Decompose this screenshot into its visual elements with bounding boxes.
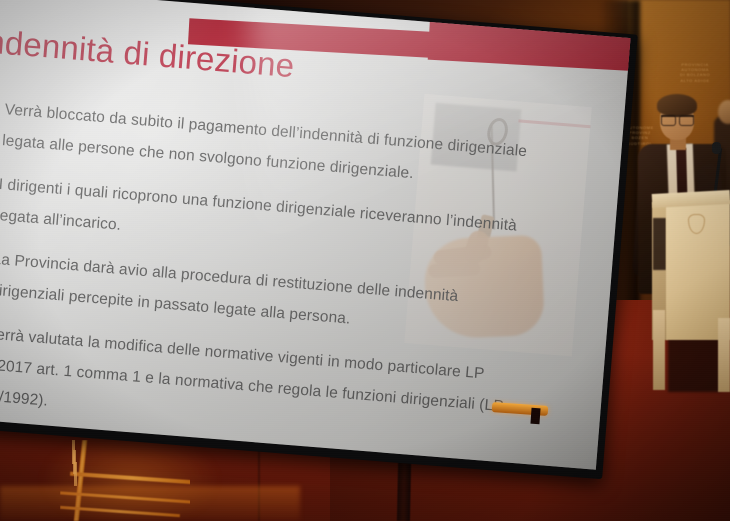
- floor-light-strip: [0, 486, 300, 521]
- microphone-icon: [712, 142, 721, 154]
- presentation-photo-scene: PROVINCIA AUTONOMA DI BOLZANO ALTO ADIGE…: [0, 0, 730, 521]
- display-foot-post: [530, 408, 540, 425]
- slide-bullet-list: Verrà bloccato da subito il pagamento de…: [0, 92, 533, 467]
- lectern: [652, 192, 730, 392]
- slide-screen: Indennità di direzione Verrà bloccato da…: [0, 0, 631, 470]
- backdrop-text-italian: PROVINCIA AUTONOMA DI BOLZANO ALTO ADIGE: [680, 62, 710, 83]
